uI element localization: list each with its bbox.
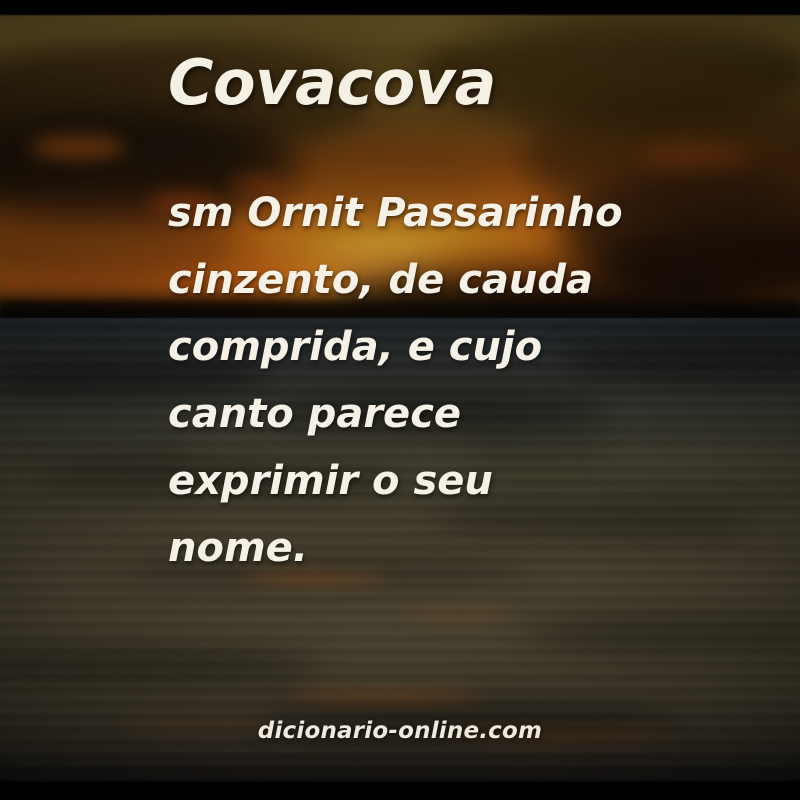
definition-line: exprimir o seu xyxy=(168,448,688,515)
definition-text: sm Ornit Passarinho cinzento, de cauda c… xyxy=(168,180,688,582)
definition-line: nome. xyxy=(168,515,688,582)
headword-title: Covacova xyxy=(168,52,496,114)
definition-line: sm Ornit Passarinho xyxy=(168,180,688,247)
site-watermark: dicionario-online.com xyxy=(0,718,800,744)
text-overlay: Covacova sm Ornit Passarinho cinzento, d… xyxy=(0,0,800,800)
dictionary-entry-card: Covacova sm Ornit Passarinho cinzento, d… xyxy=(0,0,800,800)
definition-line: cinzento, de cauda xyxy=(168,247,688,314)
definition-line: canto parece xyxy=(168,381,688,448)
definition-line: comprida, e cujo xyxy=(168,314,688,381)
